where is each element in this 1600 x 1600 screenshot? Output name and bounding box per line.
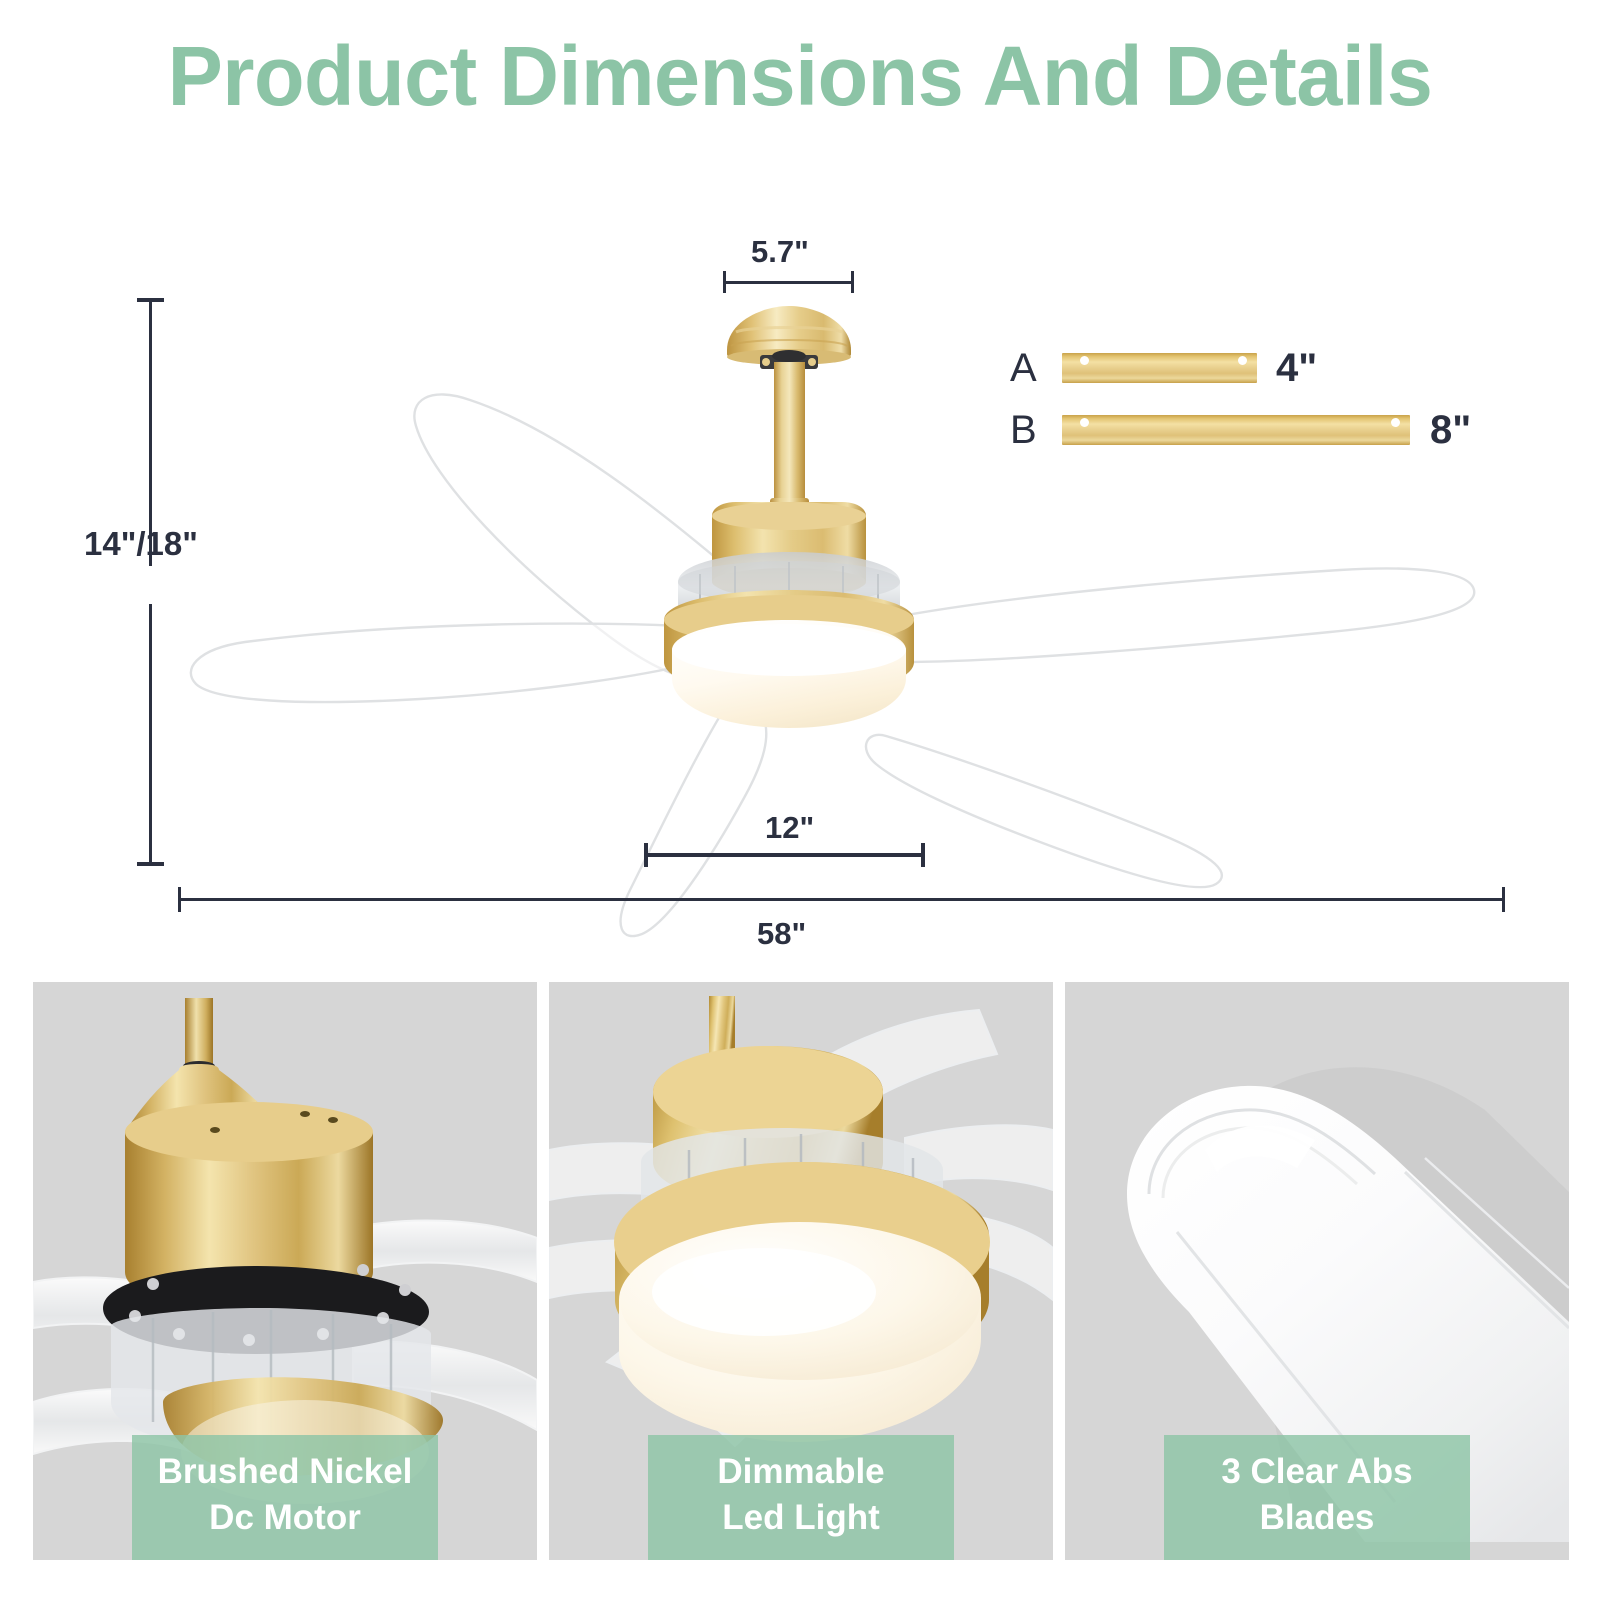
canopy-width-tick-right <box>851 271 854 293</box>
canopy-width-line <box>724 281 854 284</box>
caption-motor-line2: Dc Motor <box>138 1495 432 1541</box>
feature-panel-blades: 3 Clear Abs Blades <box>1065 982 1569 1560</box>
feature-caption-motor: Brushed Nickel Dc Motor <box>132 1435 438 1560</box>
caption-blades-line1: 3 Clear Abs <box>1170 1449 1464 1495</box>
height-dimension-line-lower <box>149 604 152 865</box>
canopy-width-tick-left <box>723 271 726 293</box>
feature-caption-light: Dimmable Led Light <box>648 1435 954 1560</box>
caption-light-line2: Led Light <box>654 1495 948 1541</box>
feature-panel-motor: Brushed Nickel Dc Motor <box>33 982 537 1560</box>
downrod-a-hole-left <box>1080 356 1089 365</box>
downrod-a-tag: A <box>1010 347 1037 389</box>
blade-span-line <box>178 898 1505 901</box>
light-diameter-line <box>644 853 925 857</box>
caption-motor-line1: Brushed Nickel <box>138 1449 432 1495</box>
blade-span-label: 58" <box>757 916 806 952</box>
feature-caption-blades: 3 Clear Abs Blades <box>1164 1435 1470 1560</box>
height-tick-top <box>137 298 164 302</box>
dimension-diagram: 14"/18" 5.7" 12" 58" A 4" B 8" <box>0 150 1600 980</box>
downrod-b-length: 8" <box>1430 407 1471 453</box>
feature-panels: Brushed Nickel Dc Motor <box>0 982 1600 1582</box>
caption-light-line1: Dimmable <box>654 1449 948 1495</box>
blade-span-tick-right <box>1502 887 1505 912</box>
led-diffuser <box>672 620 906 728</box>
downrod <box>774 362 805 502</box>
downrod-b-tag: B <box>1010 409 1037 451</box>
height-tick-bottom <box>137 862 164 866</box>
downrod-a-length: 4" <box>1276 345 1317 391</box>
height-dimension-label: 14"/18" <box>84 525 198 563</box>
downrod-b-hole-right <box>1391 418 1400 427</box>
light-diameter-label: 12" <box>765 810 814 846</box>
downrod-b-bar <box>1062 415 1410 445</box>
feature-panel-light: Dimmable Led Light <box>549 982 1053 1560</box>
downrod-a-hole-right <box>1238 356 1247 365</box>
light-diameter-tick-left <box>644 843 648 867</box>
canopy-width-label: 5.7" <box>751 234 809 270</box>
downrod-b-hole-left <box>1080 418 1089 427</box>
downrod-legend: A 4" B 8" <box>1010 345 1530 465</box>
light-diameter-tick-right <box>921 843 925 867</box>
blade-span-tick-left <box>178 887 181 912</box>
caption-blades-line2: Blades <box>1170 1495 1464 1541</box>
page-title: Product Dimensions And Details <box>12 28 1588 125</box>
canopy <box>727 306 851 369</box>
downrod-a-bar <box>1062 353 1257 383</box>
